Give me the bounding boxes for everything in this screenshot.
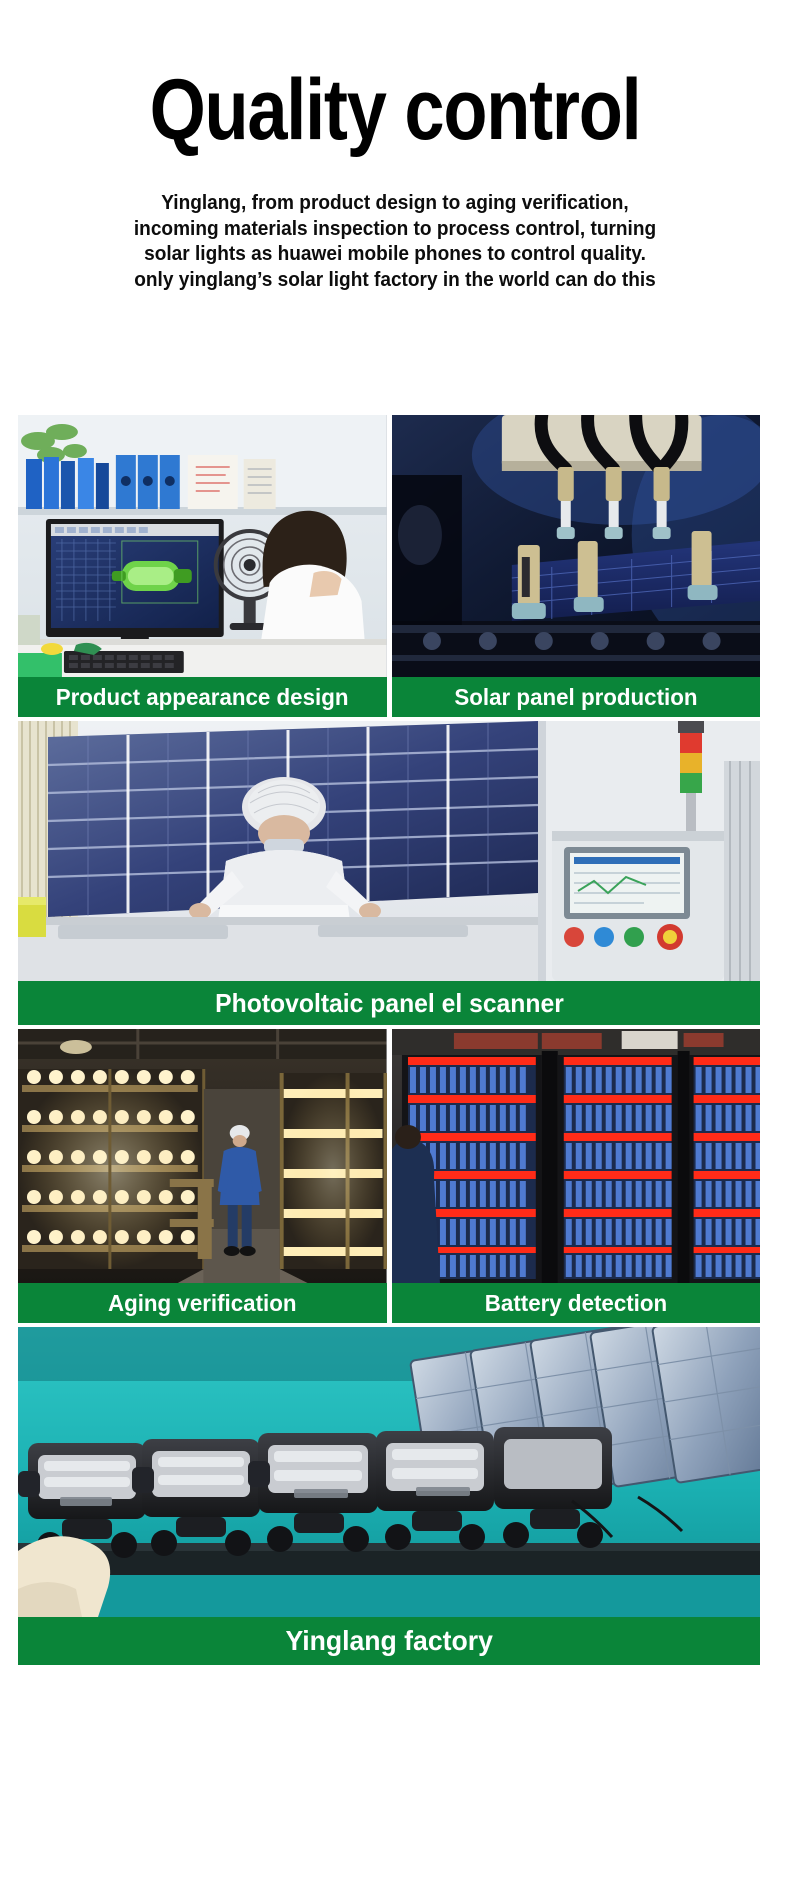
gallery-item-yinglang-factory[interactable]: Yinglang factory	[18, 1327, 760, 1665]
caption-label: Yinglang factory	[285, 1625, 492, 1657]
quality-control-page: Quality control Yinglang, from product d…	[0, 0, 790, 1896]
photo-aging-verification	[18, 1029, 387, 1283]
gallery-row: Product appearance design	[18, 415, 760, 717]
caption-label: Photovoltaic panel el scanner	[215, 988, 564, 1019]
photo-product-appearance-design	[18, 415, 387, 677]
subtitle-line-1: Yinglang, from product design to aging v…	[37, 190, 753, 216]
gallery-item-solar-panel-production[interactable]: Solar panel production	[392, 415, 761, 717]
photo-yinglang-factory	[18, 1327, 760, 1617]
subtitle-line-4: only yinglang’s solar light factory in t…	[37, 267, 753, 293]
caption-bar: Solar panel production	[392, 677, 761, 717]
caption-bar: Aging verification	[18, 1283, 387, 1323]
gallery-item-aging-verification[interactable]: Aging verification	[18, 1029, 387, 1323]
page-title: Quality control	[63, 62, 727, 158]
caption-label: Battery detection	[485, 1290, 667, 1317]
gallery-item-product-appearance-design[interactable]: Product appearance design	[18, 415, 387, 717]
caption-label: Aging verification	[108, 1290, 297, 1317]
page-subtitle: Yinglang, from product design to aging v…	[37, 190, 753, 292]
caption-bar: Product appearance design	[18, 677, 387, 717]
gallery-row: Aging verification	[18, 1029, 760, 1323]
caption-bar: Photovoltaic panel el scanner	[18, 981, 760, 1025]
gallery-item-photovoltaic-panel-el-scanner[interactable]: Photovoltaic panel el scanner	[18, 721, 760, 1025]
caption-bar: Battery detection	[392, 1283, 761, 1323]
caption-bar: Yinglang factory	[18, 1617, 760, 1665]
caption-label: Product appearance design	[56, 684, 349, 711]
photo-gallery: Product appearance design	[18, 415, 760, 1669]
photo-photovoltaic-panel-el-scanner	[18, 721, 760, 981]
subtitle-line-2: incoming materials inspection to process…	[37, 216, 753, 242]
caption-label: Solar panel production	[454, 684, 697, 711]
gallery-item-battery-detection[interactable]: Battery detection	[392, 1029, 761, 1323]
gallery-row: Yinglang factory	[18, 1327, 760, 1665]
photo-battery-detection	[392, 1029, 761, 1283]
gallery-row: Photovoltaic panel el scanner	[18, 721, 760, 1025]
photo-solar-panel-production	[392, 415, 761, 677]
subtitle-line-3: solar lights as huawei mobile phones to …	[37, 241, 753, 267]
